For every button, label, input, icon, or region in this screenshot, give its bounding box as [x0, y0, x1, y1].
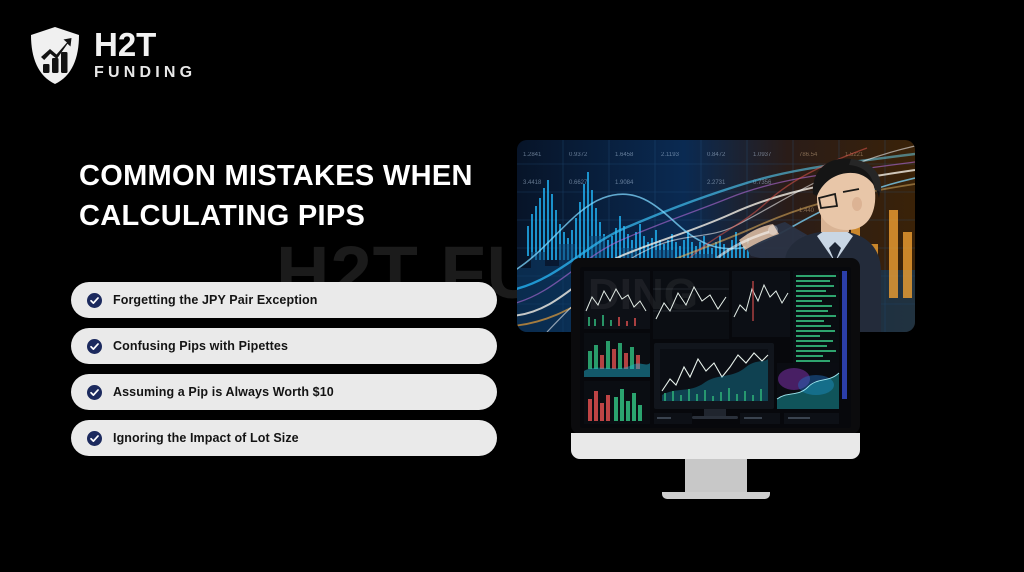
page-title: Common Mistakes When Calculating Pips	[79, 156, 519, 236]
svg-text:DING: DING	[588, 270, 698, 319]
check-circle-icon	[87, 431, 102, 446]
monitor-screen: DING	[580, 267, 851, 428]
svg-text:2.1193: 2.1193	[661, 152, 680, 158]
list-item[interactable]: Assuming a Pip is Always Worth $10	[71, 374, 497, 410]
monitor-bezel: DING	[571, 258, 860, 434]
slide-canvas: H2T FUNDING H2T FUNDING Common Mistakes …	[0, 0, 1024, 572]
svg-text:1.6458: 1.6458	[615, 152, 634, 158]
list-item[interactable]: Forgetting the JPY Pair Exception	[71, 282, 497, 318]
monitor-chin	[571, 433, 860, 459]
monitor-mockup: DING	[571, 258, 860, 499]
svg-text:2.2731: 2.2731	[707, 180, 726, 186]
brand-name-primary: H2T	[94, 28, 196, 61]
brand-name-secondary: FUNDING	[94, 63, 196, 84]
svg-text:0.6627: 0.6627	[569, 180, 588, 186]
svg-text:0.9372: 0.9372	[569, 152, 588, 158]
monitor-stand-neck	[685, 459, 747, 492]
list-item-label: Ignoring the Impact of Lot Size	[113, 431, 299, 445]
svg-text:3.4418: 3.4418	[523, 180, 542, 186]
svg-text:786.54: 786.54	[799, 152, 818, 158]
svg-text:0.8472: 0.8472	[707, 152, 726, 158]
svg-text:1.9084: 1.9084	[615, 180, 634, 186]
list-item[interactable]: Confusing Pips with Pipettes	[71, 328, 497, 364]
list-item-label: Confusing Pips with Pipettes	[113, 339, 288, 353]
list-item-label: Forgetting the JPY Pair Exception	[113, 293, 318, 307]
check-circle-icon	[87, 339, 102, 354]
monitor-stand-foot	[662, 492, 770, 499]
mistakes-checklist: Forgetting the JPY Pair Exception Confus…	[71, 282, 497, 456]
shield-chart-arrow-icon	[28, 26, 82, 86]
brand-logo[interactable]: H2T FUNDING	[28, 26, 196, 86]
svg-text:1.2841: 1.2841	[523, 152, 542, 158]
list-item[interactable]: Ignoring the Impact of Lot Size	[71, 420, 497, 456]
check-circle-icon	[87, 293, 102, 308]
svg-text:1.0937: 1.0937	[753, 152, 772, 158]
list-item-label: Assuming a Pip is Always Worth $10	[113, 385, 334, 399]
check-circle-icon	[87, 385, 102, 400]
